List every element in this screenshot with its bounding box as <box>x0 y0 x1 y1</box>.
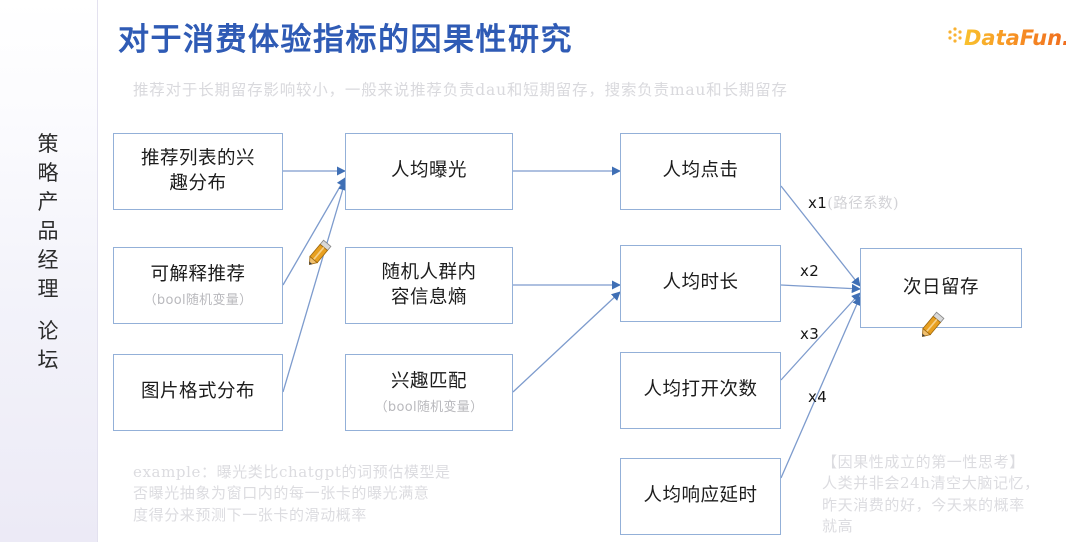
node-label: 可解释推荐 <box>150 263 245 287</box>
node-sublabel: （bool随机变量） <box>144 289 253 308</box>
node-random-crowd-content-entropy[interactable]: 随机人群内 容信息熵 <box>345 247 513 324</box>
node-avg-open-count[interactable]: 人均打开次数 <box>620 352 781 429</box>
node-label: 推荐列表的兴 趣分布 <box>141 147 255 196</box>
node-recommend-list-interest-distribution[interactable]: 推荐列表的兴 趣分布 <box>113 133 283 210</box>
node-label: 随机人群内 容信息熵 <box>381 261 476 310</box>
node-label: 兴趣匹配 <box>391 370 467 394</box>
node-sublabel: （bool随机变量） <box>375 396 484 415</box>
node-explainable-recommendation[interactable]: 可解释推荐 （bool随机变量） <box>113 247 283 324</box>
coefficient-label-x4: x4 <box>808 388 827 406</box>
node-image-format-distribution[interactable]: 图片格式分布 <box>113 354 283 431</box>
node-label: 次日留存 <box>903 276 979 300</box>
node-avg-duration[interactable]: 人均时长 <box>620 245 781 322</box>
node-label: 人均曝光 <box>391 159 467 183</box>
node-avg-response-latency[interactable]: 人均响应延时 <box>620 458 781 535</box>
note-first-principles: 【因果性成立的第一性思考】 人类并非会24h清空大脑记忆， 昨天消费的好，今天来… <box>822 452 1072 537</box>
coefficient-annotation: (路径系数) <box>827 196 899 212</box>
node-interest-match[interactable]: 兴趣匹配 （bool随机变量） <box>345 354 513 431</box>
note-example: example：曝光类比chatgpt的词预估模型是 否曝光抽象为窗口内的每一张… <box>133 462 533 526</box>
pencil-cursor-icon <box>298 233 346 281</box>
coefficient-value: x1 <box>808 194 827 212</box>
coefficient-value: x2 <box>800 262 819 280</box>
node-label: 人均点击 <box>662 159 738 183</box>
node-avg-exposure[interactable]: 人均曝光 <box>345 133 513 210</box>
node-label: 人均时长 <box>662 271 738 295</box>
coefficient-label-x2: x2 <box>800 262 819 280</box>
coefficient-label-x3: x3 <box>800 325 819 343</box>
node-label: 人均响应延时 <box>643 484 757 508</box>
slide-canvas: 策 略 产 品 经 理 论 坛 对于消费体验指标的因果性研究 推荐对于长期留存影… <box>0 0 1080 542</box>
coefficient-value: x3 <box>800 325 819 343</box>
coefficient-value: x4 <box>808 388 827 406</box>
node-label: 人均打开次数 <box>643 378 757 402</box>
node-label: 图片格式分布 <box>141 380 255 404</box>
coefficient-label-x1: x1(路径系数) <box>808 192 899 213</box>
node-avg-click[interactable]: 人均点击 <box>620 133 781 210</box>
